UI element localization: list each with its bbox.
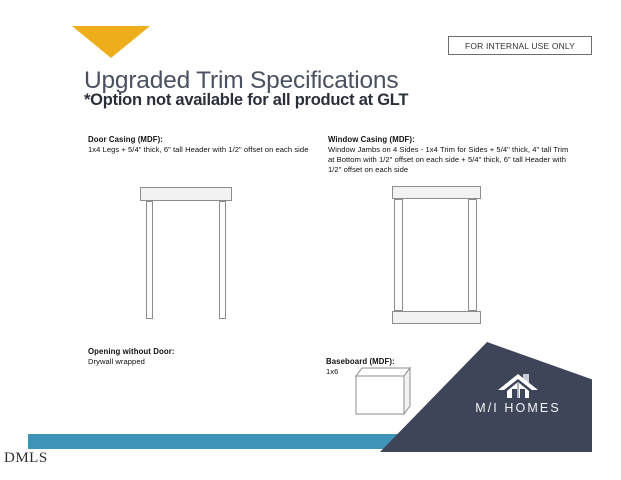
internal-use-badge: FOR INTERNAL USE ONLY	[448, 36, 592, 55]
door-casing-heading: Door Casing (MDF):	[88, 134, 318, 145]
window-casing-heading: Window Casing (MDF):	[328, 134, 573, 145]
page-subtitle: *Option not available for all product at…	[84, 91, 408, 110]
spec-sheet-page: FOR INTERNAL USE ONLY Upgraded Trim Spec…	[0, 0, 621, 480]
window-casing-diagram	[392, 186, 481, 324]
window-bottom-trim	[392, 311, 481, 324]
door-casing-body: 1x4 Legs + 5/4" thick, 6" tall Header wi…	[88, 145, 318, 155]
mi-homes-logo: M/I HOMES	[458, 373, 578, 415]
window-header-trim	[392, 186, 481, 199]
window-casing-body: Window Jambs on 4 Sides - 1x4 Trim for S…	[328, 145, 573, 176]
door-casing-diagram	[140, 187, 232, 319]
house-roof-icon	[497, 373, 539, 399]
baseboard-isometric-icon	[352, 366, 414, 418]
opening-without-door-heading: Opening without Door:	[88, 346, 298, 357]
door-header-trim	[140, 187, 232, 201]
mi-homes-logo-text: M/I HOMES	[458, 401, 578, 415]
door-casing-spec: Door Casing (MDF): 1x4 Legs + 5/4" thick…	[88, 134, 318, 155]
opening-without-door-spec: Opening without Door: Drywall wrapped	[88, 346, 298, 367]
window-right-jamb-trim	[468, 199, 477, 311]
window-casing-spec: Window Casing (MDF): Window Jambs on 4 S…	[328, 134, 573, 176]
door-right-leg-trim	[219, 201, 226, 319]
baseboard-diagram	[352, 366, 414, 418]
dmls-watermark: DMLS	[4, 450, 48, 467]
internal-use-badge-label: FOR INTERNAL USE ONLY	[465, 41, 575, 51]
opening-without-door-body: Drywall wrapped	[88, 357, 298, 367]
door-left-leg-trim	[146, 201, 153, 319]
gold-triangle-icon	[72, 26, 150, 58]
window-left-jamb-trim	[394, 199, 403, 311]
